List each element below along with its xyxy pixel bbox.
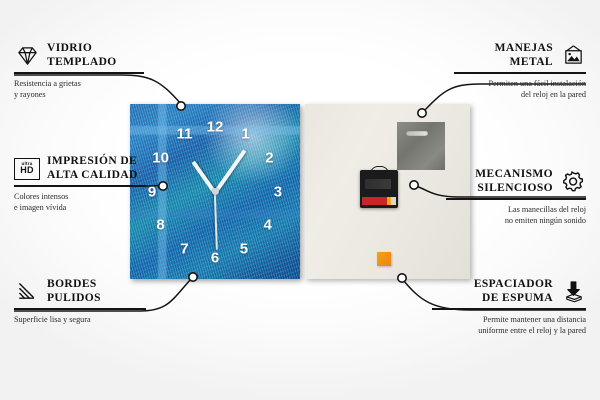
feature-title: VIDRIO TEMPLADO: [47, 42, 144, 69]
hanger-slot: [406, 131, 428, 136]
feature-title: BORDES PULIDOS: [47, 278, 146, 305]
clock-numeral-10: 10: [152, 151, 169, 166]
clock-second-hand: [214, 192, 218, 250]
feature-desc-line1: Colores intensos: [14, 191, 146, 202]
feature-title-line2: TEMPLADO: [47, 56, 144, 70]
feature-heading: ESPACIADOR DE ESPUMA: [432, 278, 586, 305]
feature-desc-line1: Superficie lisa y segura: [14, 314, 146, 325]
clock-numeral-9: 9: [148, 184, 156, 199]
foam-spacer-arrow-icon: [560, 280, 586, 304]
feature-description: Permite mantener una distancia uniforme …: [432, 314, 586, 336]
feature-heading: ultra HD IMPRESIÓN DE ALTA CALIDAD: [14, 155, 146, 182]
clock-numeral-8: 8: [156, 217, 164, 232]
feature-title-line2: METAL: [454, 56, 553, 70]
feature-divider: [454, 72, 586, 74]
feature-description: Superficie lisa y segura: [14, 314, 146, 325]
feature-vidrio-templado: VIDRIO TEMPLADO Resistencia a grietas y …: [14, 42, 144, 100]
feature-title-line1: ESPACIADOR: [432, 278, 553, 292]
feature-desc-line2: uniforme entre el reloj y la pared: [432, 325, 586, 336]
clock-minute-hand: [213, 149, 246, 194]
feature-desc-line1: Permite mantener una distancia: [432, 314, 586, 325]
clock-numeral-6: 6: [211, 251, 219, 266]
feature-title-line2: PULIDOS: [47, 292, 146, 306]
clock-numeral-1: 1: [241, 126, 249, 141]
feature-desc-line1: Las manecillas del reloj: [446, 204, 586, 215]
feature-description: Permiten una fácil instalación del reloj…: [454, 78, 586, 100]
feature-title: ESPACIADOR DE ESPUMA: [432, 278, 553, 305]
feature-desc-line1: Resistencia a grietas: [14, 78, 144, 89]
feature-title-line2: DE ESPUMA: [432, 292, 553, 306]
feature-description: Las manecillas del reloj no emiten ningú…: [446, 204, 586, 226]
infographic-canvas: 12 1 2 3 4 5 6 7 8 9 10 11: [0, 0, 600, 400]
feature-heading: MANEJAS METAL: [454, 42, 586, 69]
picture-frame-hanger-icon: [560, 44, 586, 68]
clock-numeral-4: 4: [264, 217, 272, 232]
gear-icon: [560, 170, 586, 194]
feature-divider: [14, 185, 146, 187]
feature-title-line1: IMPRESIÓN DE: [47, 155, 146, 169]
ultra-hd-icon: ultra HD: [14, 157, 40, 181]
metal-hanger-plate: [397, 122, 445, 170]
polished-edges-icon: [14, 280, 40, 304]
feature-title: MANEJAS METAL: [454, 42, 553, 69]
clock-numeral-12: 12: [207, 119, 224, 134]
feature-desc-line1: Permiten una fácil instalación: [454, 78, 586, 89]
feature-heading: BORDES PULIDOS: [14, 278, 146, 305]
diamond-icon: [14, 44, 40, 68]
feature-heading: VIDRIO TEMPLADO: [14, 42, 144, 69]
product-photo-group: 12 1 2 3 4 5 6 7 8 9 10 11: [130, 104, 470, 279]
feature-title-line1: VIDRIO: [47, 42, 144, 56]
feature-description: Colores intensos e imagen vívida: [14, 191, 146, 213]
clock-numeral-7: 7: [180, 242, 188, 257]
feature-title-line1: BORDES: [47, 278, 146, 292]
clock-mechanism-box: [360, 170, 398, 208]
feature-manejas-metal: MANEJAS METAL Permiten una fácil instala…: [454, 42, 586, 100]
clock-numeral-2: 2: [265, 151, 273, 166]
feature-title-line2: SILENCIOSO: [446, 182, 553, 196]
clock-numeral-5: 5: [240, 242, 248, 257]
foam-spacer-pad: [377, 252, 391, 266]
feature-title-line1: MANEJAS: [454, 42, 553, 56]
ultra-hd-icon-bottom-text: HD: [20, 166, 34, 175]
feature-divider: [14, 72, 144, 74]
feature-desc-line2: no emiten ningún sonido: [446, 215, 586, 226]
mechanism-hanger-loop: [370, 166, 389, 175]
feature-divider: [14, 308, 146, 310]
mechanism-battery-label: [362, 197, 396, 205]
feature-divider: [432, 308, 586, 310]
feature-mecanismo-silencioso: MECANISMO SILENCIOSO Las manecillas del …: [446, 168, 586, 226]
feature-espaciador-de-espuma: ESPACIADOR DE ESPUMA Permite mantener un…: [432, 278, 586, 336]
feature-desc-line2: y rayones: [14, 89, 144, 100]
feature-description: Resistencia a grietas y rayones: [14, 78, 144, 100]
clock-center-cap: [212, 188, 219, 195]
feature-desc-line2: e imagen vívida: [14, 202, 146, 213]
feature-divider: [446, 198, 586, 200]
feature-title-line1: MECANISMO: [446, 168, 553, 182]
clock-numeral-11: 11: [176, 126, 192, 141]
feature-title: IMPRESIÓN DE ALTA CALIDAD: [47, 155, 146, 182]
mechanism-dial: [365, 179, 391, 189]
feature-title: MECANISMO SILENCIOSO: [446, 168, 553, 195]
feature-title-line2: ALTA CALIDAD: [47, 169, 146, 183]
clock-front-face: 12 1 2 3 4 5 6 7 8 9 10 11: [130, 104, 300, 279]
feature-bordes-pulidos: BORDES PULIDOS Superficie lisa y segura: [14, 278, 146, 325]
feature-impresion-alta-calidad: ultra HD IMPRESIÓN DE ALTA CALIDAD Color…: [14, 155, 146, 213]
feature-heading: MECANISMO SILENCIOSO: [446, 168, 586, 195]
clock-numeral-3: 3: [274, 184, 282, 199]
feature-desc-line2: del reloj en la pared: [454, 89, 586, 100]
